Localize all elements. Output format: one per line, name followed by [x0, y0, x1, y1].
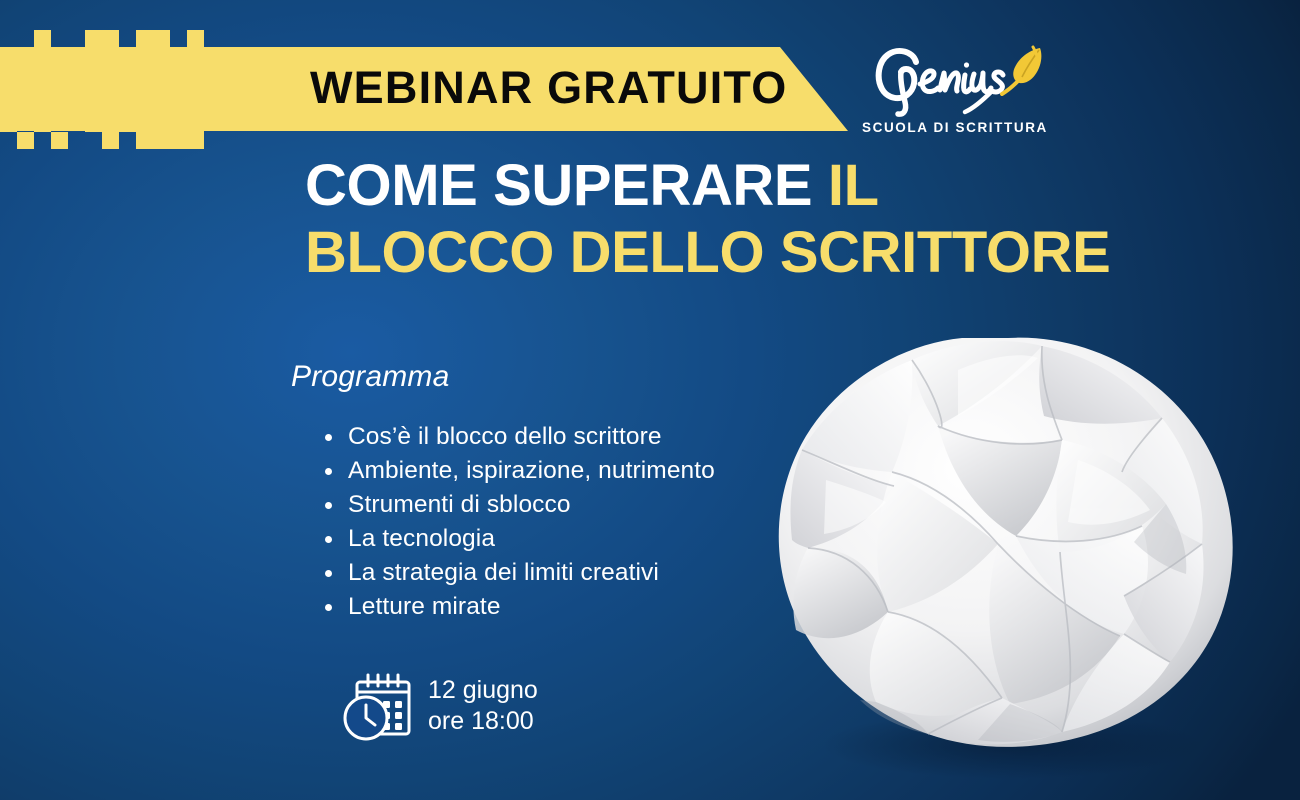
pixel-square [170, 132, 187, 149]
banner-label: WEBINAR GRATUITO [310, 62, 788, 114]
list-item: Strumenti di sblocco [322, 488, 715, 522]
list-item: La tecnologia [322, 522, 715, 556]
pixel-square [51, 132, 68, 149]
crumpled-paper-ball-image [762, 330, 1254, 782]
bullet-icon [325, 502, 332, 509]
list-item-label: Cos’è il blocco dello scrittore [348, 423, 662, 450]
event-date: 12 giugno [428, 675, 538, 706]
pixel-square [187, 30, 204, 47]
pixel-square [102, 132, 119, 149]
pixel-square [17, 132, 34, 149]
bullet-icon [325, 570, 332, 577]
pixel-square [34, 30, 51, 47]
logo-tagline: SCUOLA DI SCRITTURA [862, 120, 1027, 135]
bullet-icon [325, 536, 332, 543]
calendar-clock-icon [340, 668, 416, 744]
headline-line-1: COME SUPERARE IL [305, 152, 1125, 219]
pixel-square [187, 132, 204, 149]
pixel-square [136, 132, 153, 149]
list-item-label: Ambiente, ispirazione, nutrimento [348, 457, 715, 484]
list-item-label: La strategia dei limiti creativi [348, 559, 659, 586]
list-item-label: Letture mirate [348, 593, 501, 620]
datetime-text: 12 giugno ore 18:00 [428, 675, 538, 737]
list-item-label: La tecnologia [348, 525, 495, 552]
list-item: Ambiente, ispirazione, nutrimento [322, 454, 715, 488]
page-title: COME SUPERARE IL BLOCCO DELLO SCRITTORE [305, 152, 1125, 287]
bullet-icon [325, 468, 332, 475]
list-item: Letture mirate [322, 590, 715, 624]
pixel-square [102, 30, 119, 47]
programma-list: Cos’è il blocco dello scrittore Ambiente… [322, 420, 715, 624]
headline-line-2: BLOCCO DELLO SCRITTORE [305, 219, 1125, 286]
event-datetime: 12 giugno ore 18:00 [340, 668, 538, 744]
pixel-square [136, 30, 153, 47]
pixel-square [85, 30, 102, 47]
list-item: Cos’è il blocco dello scrittore [322, 420, 715, 454]
programma-heading: Programma [291, 360, 450, 394]
brand-logo[interactable]: SCUOLA DI SCRITTURA [862, 42, 1062, 147]
bullet-icon [325, 604, 332, 611]
pixel-square [153, 30, 170, 47]
list-item: La strategia dei limiti creativi [322, 556, 715, 590]
webinar-banner: WEBINAR GRATUITO [0, 47, 848, 131]
quill-pen-icon [1000, 44, 1048, 96]
pixel-square [153, 132, 170, 149]
event-time: ore 18:00 [428, 706, 538, 737]
bullet-icon [325, 434, 332, 441]
webinar-poster: WEBINAR GRATUITO [0, 0, 1300, 800]
headline-part-yellow: IL [828, 153, 879, 218]
list-item-label: Strumenti di sblocco [348, 491, 571, 518]
headline-part-white: COME SUPERARE [305, 153, 812, 218]
